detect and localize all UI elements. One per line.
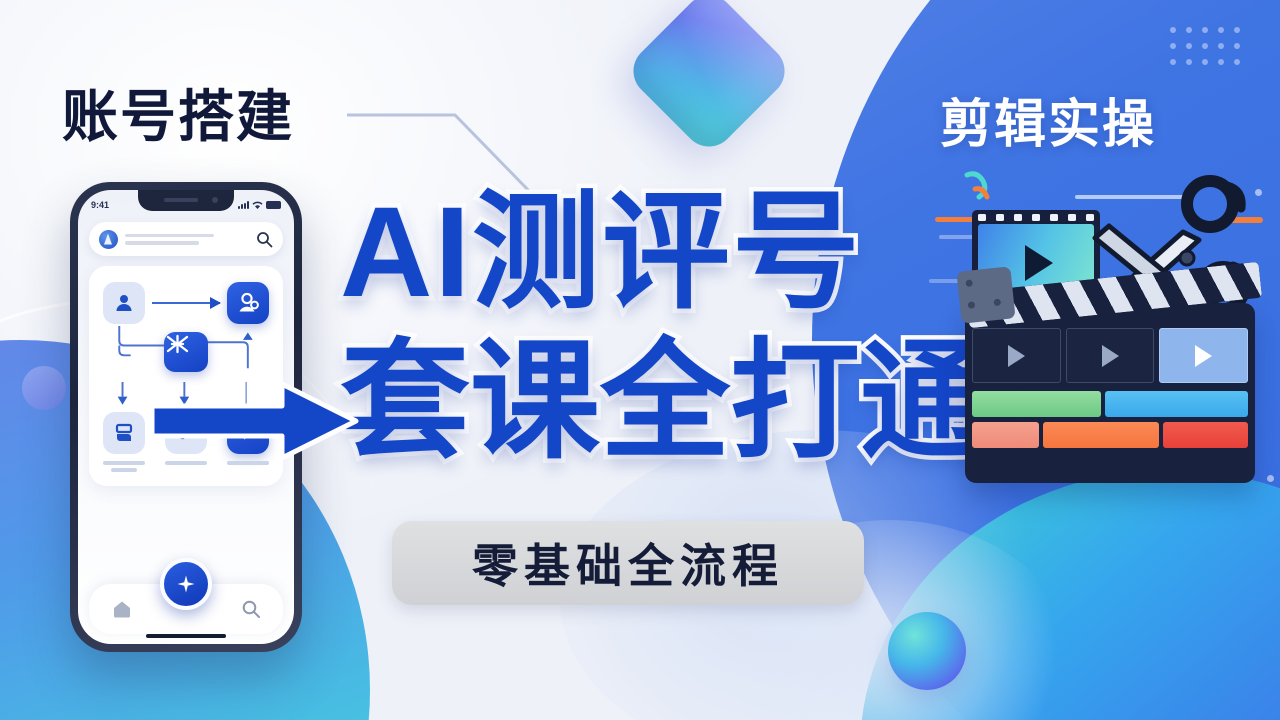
timeline-clip[interactable] <box>1043 422 1159 448</box>
poster-canvas: 账号搭建 剪辑实操 AI测评号 套课全打通 零基础全流程 9:41 <box>0 0 1280 720</box>
video-editing-graphic <box>955 175 1280 515</box>
status-time: 9:41 <box>91 200 109 210</box>
search-icon[interactable] <box>241 599 261 619</box>
document-icon <box>103 412 145 454</box>
big-right-arrow-icon <box>150 378 360 464</box>
timeline-track <box>972 422 1248 448</box>
timeline-track <box>972 391 1248 417</box>
flow-connectors <box>103 326 269 380</box>
phone-status-bar: 9:41 <box>78 196 294 214</box>
tag-editing-practice: 剪辑实操 <box>940 82 1156 157</box>
phone-home-indicator <box>146 634 226 638</box>
decor-dot <box>1267 475 1274 482</box>
decor-circle-small <box>22 366 66 410</box>
clapperboard-icon <box>965 303 1255 483</box>
search-input[interactable] <box>89 222 283 256</box>
play-triangle-icon <box>1025 245 1053 281</box>
dot-grid-icon <box>1170 22 1250 70</box>
sparkle-plus-icon[interactable] <box>160 558 212 610</box>
user-avatar-icon <box>99 230 118 249</box>
signal-bars-icon <box>238 201 249 209</box>
clip-preview-selected[interactable] <box>1159 328 1248 383</box>
home-icon[interactable] <box>111 598 133 620</box>
verified-person-icon[interactable] <box>227 282 269 324</box>
ai-network-icon[interactable] <box>164 332 208 372</box>
clapper-hinge <box>956 266 1015 323</box>
timeline-clip[interactable] <box>972 391 1101 417</box>
search-icon[interactable] <box>256 231 273 248</box>
clip-preview[interactable] <box>1066 328 1155 383</box>
flow-row-top <box>103 282 269 324</box>
tile-label-lines <box>103 461 145 472</box>
tag-account-setup: 账号搭建 <box>62 72 294 153</box>
flow-tile-document[interactable] <box>103 412 145 472</box>
wifi-icon <box>252 201 263 210</box>
gradient-sphere-icon <box>888 612 966 690</box>
battery-icon <box>266 201 281 209</box>
search-placeholder-lines <box>125 234 249 245</box>
person-icon[interactable] <box>103 282 145 324</box>
timeline-clip[interactable] <box>1105 391 1248 417</box>
decor-streak-orange <box>935 217 975 222</box>
decor-squiggle-icon <box>961 169 1013 205</box>
flow-arrow-right <box>152 302 220 304</box>
clip-previews <box>972 328 1248 383</box>
timeline <box>972 391 1248 448</box>
timeline-clip[interactable] <box>972 422 1039 448</box>
clip-preview[interactable] <box>972 328 1061 383</box>
subtitle-text: 零基础全流程 <box>472 530 784 596</box>
timeline-clip[interactable] <box>1163 422 1248 448</box>
subtitle-pill: 零基础全流程 <box>392 521 864 605</box>
